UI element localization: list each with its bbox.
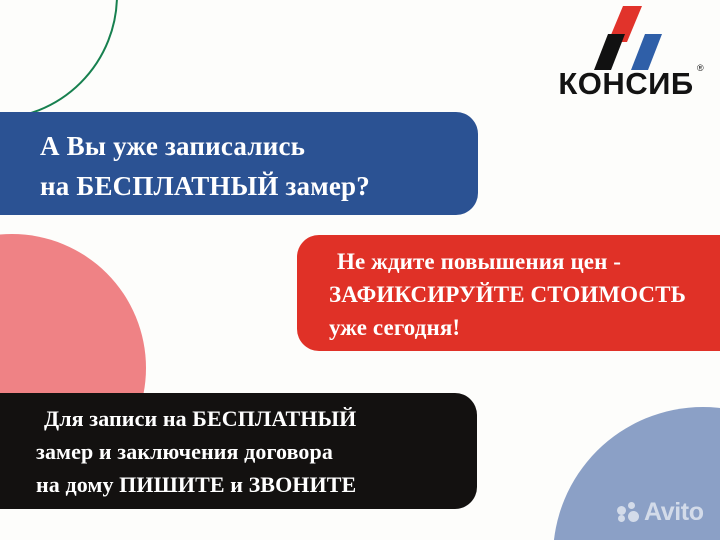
logo-shape-black: [594, 34, 625, 70]
avito-dots-icon: [617, 502, 641, 524]
black-card-line-3: на дому ПИШИТЕ и ЗВОНИТЕ: [36, 468, 477, 501]
red-card-line-2: ЗАФИКСИРУЙТЕ СТОИМОСТЬ: [329, 278, 720, 311]
logo-shape-blue: [631, 34, 662, 70]
blue-card-line-1: А Вы уже записались: [40, 126, 478, 166]
avito-watermark: Avito: [617, 500, 704, 525]
cta-card-black: Для записи на БЕСПЛАТНЫЙ замер и заключе…: [0, 393, 477, 509]
headline-card-blue: А Вы уже записались на БЕСПЛАТНЫЙ замер?: [0, 112, 478, 215]
logo-mark-icon: [592, 6, 666, 70]
black-card-line-2: замер и заключения договора: [36, 435, 477, 468]
black-card-line-1: Для записи на БЕСПЛАТНЫЙ: [36, 402, 477, 435]
avito-wordmark: Avito: [644, 500, 704, 525]
registered-trademark-icon: ®: [697, 63, 704, 73]
advertisement-banner: КОНСИБ ® А Вы уже записались на БЕСПЛАТН…: [0, 0, 720, 540]
red-card-line-1: Не ждите повышения цен -: [329, 245, 720, 278]
blue-card-line-2: на БЕСПЛАТНЫЙ замер?: [40, 166, 478, 206]
green-ring-decoration: [0, 0, 118, 120]
red-card-line-3: уже сегодня!: [329, 311, 720, 344]
message-card-red: Не ждите повышения цен - ЗАФИКСИРУЙТЕ СТ…: [297, 235, 720, 351]
company-logo: КОНСИБ ®: [538, 6, 714, 110]
logo-wordmark: КОНСИБ: [538, 68, 714, 99]
